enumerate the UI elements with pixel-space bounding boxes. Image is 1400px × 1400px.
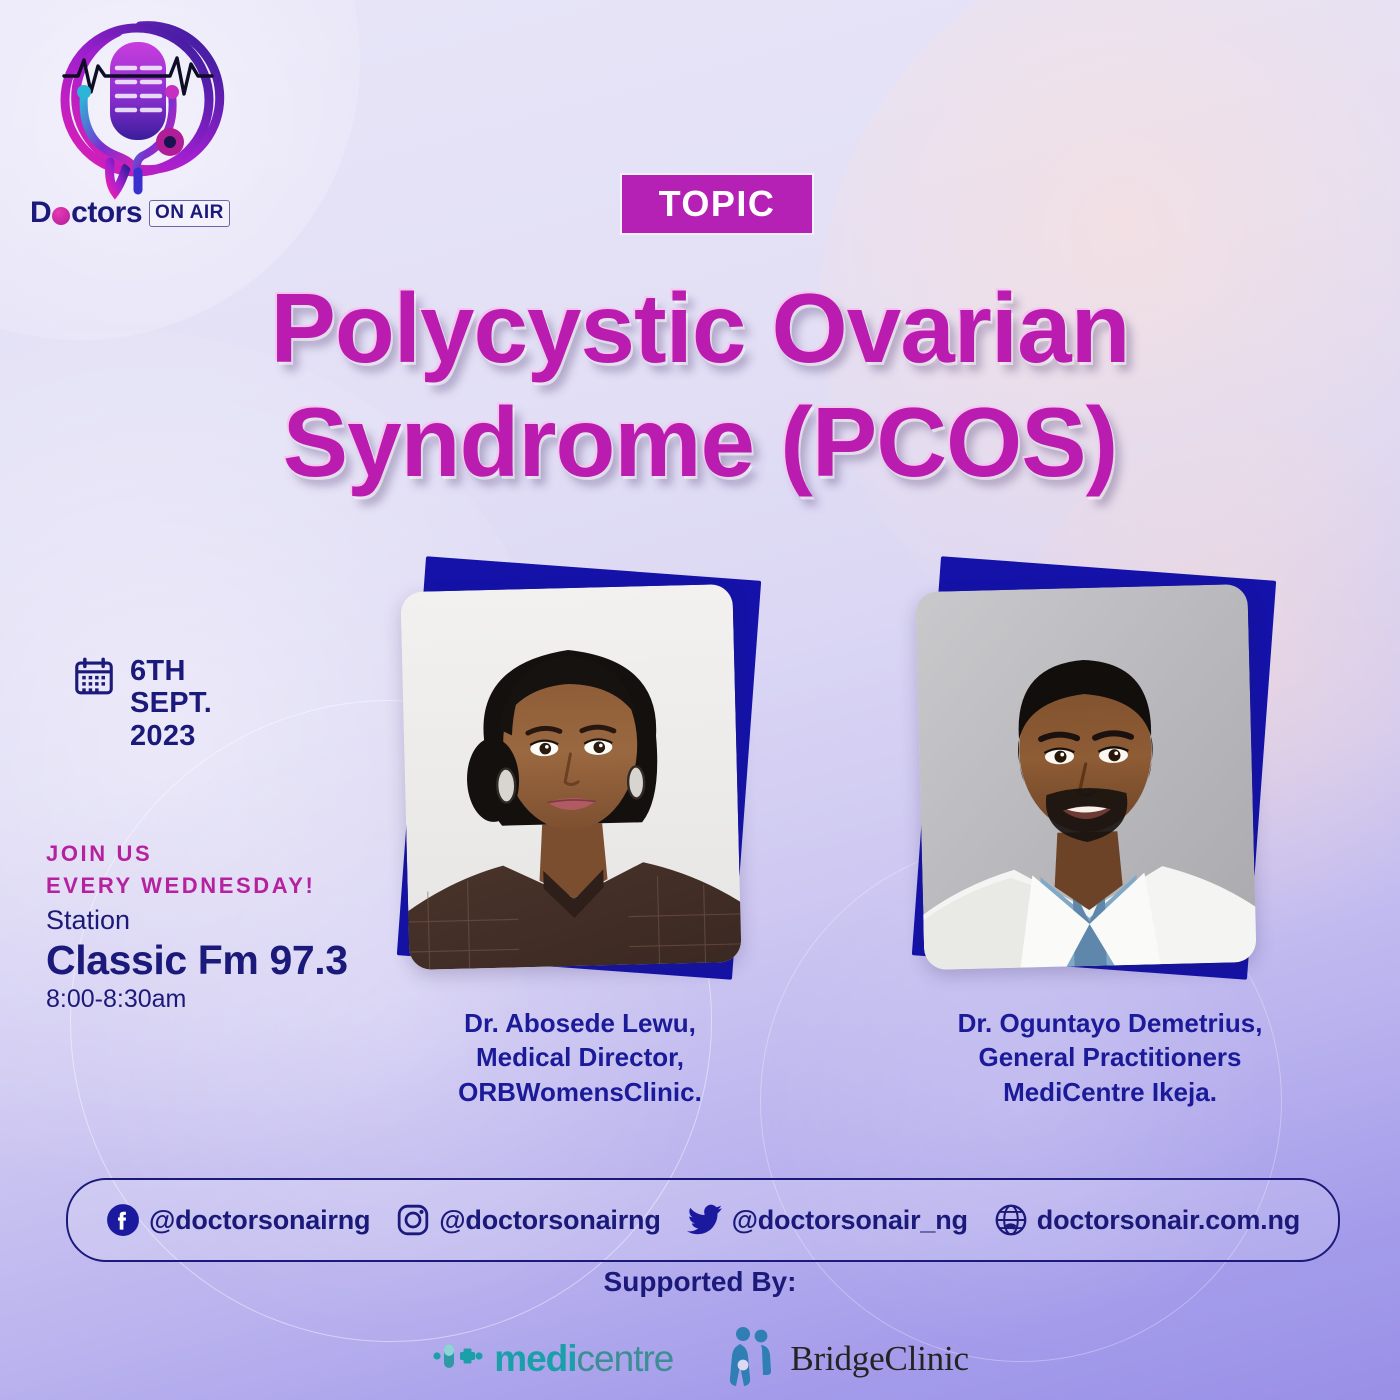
topic-badge: TOPIC (622, 175, 812, 233)
photo-frame (915, 584, 1256, 970)
twitter-handle: @doctorsonair_ng (732, 1205, 968, 1236)
page-title: Polycystic Ovarian Syndrome (PCOS) (0, 272, 1400, 499)
event-date: 6TH SEPT. 2023 (72, 655, 212, 752)
event-date-text: 6TH SEPT. 2023 (130, 655, 212, 752)
speaker-photo-card-1 (397, 560, 769, 980)
logo-wordmark: D ctors ON AIR (30, 196, 230, 230)
portrait-man-white-coat-image (915, 584, 1256, 970)
event-date-day: 6TH (130, 655, 212, 687)
station-time: 8:00-8:30am (46, 984, 348, 1014)
topic-badge-label: TOPIC (659, 183, 776, 225)
event-date-month: SEPT. (130, 687, 212, 719)
calendar-icon (72, 655, 116, 699)
station-name: Classic Fm 97.3 (46, 936, 348, 984)
sponsor-bridgeclinic: BridgeClinic (725, 1325, 968, 1392)
speaker-name: Dr. Abosede Lewu, (365, 1006, 795, 1040)
speaker-caption-1: Dr. Abosede Lewu, Medical Director, ORBW… (365, 1006, 795, 1109)
capsule-cross-icon (431, 1335, 485, 1382)
twitter-icon (687, 1203, 723, 1237)
speaker-name: Dr. Oguntayo Demetrius, (895, 1006, 1325, 1040)
photo-frame (400, 584, 741, 970)
logo-letters-ctors: ctors (71, 196, 142, 230)
title-line-1: Polycystic Ovarian (270, 273, 1129, 383)
station-info: Station Classic Fm 97.3 8:00-8:30am (46, 905, 348, 1014)
sponsor-medicentre: medicentre (431, 1335, 673, 1382)
facebook-icon (106, 1203, 140, 1237)
poster-canvas: D ctors ON AIR TOPIC Polycystic Ovarian … (0, 0, 1400, 1400)
social-link-facebook[interactable]: @doctorsonairng (106, 1203, 370, 1237)
join-us-line-1: JOIN US (46, 838, 315, 870)
station-label: Station (46, 905, 348, 936)
social-links-bar: @doctorsonairng @doctorsonairng @doctors… (66, 1178, 1340, 1262)
speaker-role: General Practitioners (895, 1040, 1325, 1074)
join-us-line-2: EVERY WEDNESDAY! (46, 870, 315, 902)
logo-wordmark-doctors: D ctors (30, 196, 142, 230)
brand-logo: D ctors ON AIR (22, 14, 252, 232)
instagram-handle: @doctorsonairng (439, 1205, 660, 1236)
speaker-photo-card-2 (912, 560, 1284, 980)
join-us-callout: JOIN US EVERY WEDNESDAY! (46, 838, 315, 902)
supported-by-heading: Supported By: (0, 1266, 1400, 1298)
medicentre-bold: medi (494, 1338, 576, 1379)
logo-dot-icon (52, 207, 70, 225)
speaker-org: ORBWomensClinic. (365, 1075, 795, 1109)
title-line-2: Syndrome (PCOS) (0, 386, 1400, 500)
speaker-caption-2: Dr. Oguntayo Demetrius, General Practiti… (895, 1006, 1325, 1109)
bridgeclinic-wordmark: BridgeClinic (790, 1339, 968, 1379)
portrait-woman-brown-blazer-image (400, 584, 741, 970)
speaker-role: Medical Director, (365, 1040, 795, 1074)
social-link-website[interactable]: doctorsonair.com.ng (994, 1203, 1300, 1237)
social-link-instagram[interactable]: @doctorsonairng (396, 1203, 660, 1237)
logo-letter-d: D (30, 196, 51, 230)
website-handle: doctorsonair.com.ng (1037, 1205, 1300, 1236)
medicentre-wordmark: medicentre (494, 1338, 673, 1380)
microphone-stethoscope-logo-icon (22, 14, 252, 204)
event-date-year: 2023 (130, 720, 212, 752)
logo-on-air-badge: ON AIR (149, 200, 230, 227)
sponsor-logos: medicentre BridgeClinic (0, 1325, 1400, 1392)
instagram-icon (396, 1203, 430, 1237)
medicentre-light: centre (577, 1338, 674, 1379)
social-link-twitter[interactable]: @doctorsonair_ng (687, 1203, 968, 1237)
two-figures-icon (725, 1325, 781, 1392)
speaker-org: MediCentre Ikeja. (895, 1075, 1325, 1109)
facebook-handle: @doctorsonairng (149, 1205, 370, 1236)
globe-icon (994, 1203, 1028, 1237)
